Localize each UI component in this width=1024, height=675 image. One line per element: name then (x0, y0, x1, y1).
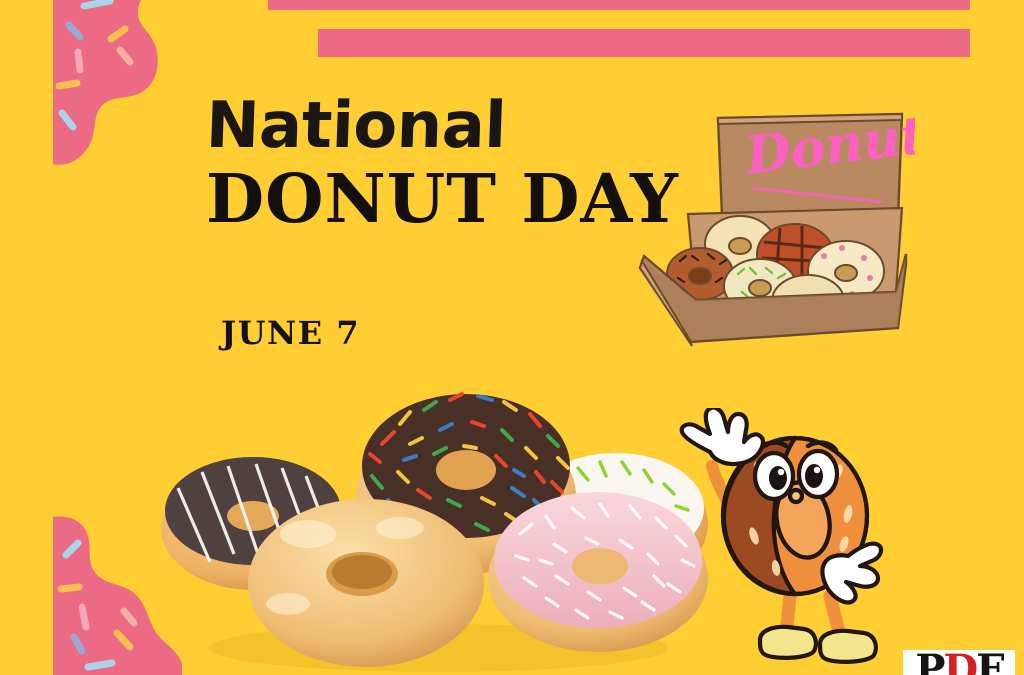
logo-letter-3: F (976, 650, 1002, 675)
poster-canvas: National DONUT DAY JUNE 7 Donuts (0, 0, 1024, 675)
logo-letter-2: D (943, 650, 976, 675)
donut-box-illustration: Donuts (630, 96, 915, 351)
top-pink-bar (268, 0, 970, 10)
second-pink-bar (318, 29, 970, 57)
brand-logo-text: PDF (915, 650, 1002, 675)
donut-mascot (668, 408, 903, 675)
logo-letter-1: P (915, 650, 943, 675)
brand-logo: PDF (903, 650, 1015, 675)
event-date: JUNE 7 (221, 314, 360, 352)
donut-sugar-glazed (248, 499, 484, 667)
frosting-blob-top-left (0, 0, 200, 176)
donut-stack-photo (148, 348, 718, 675)
